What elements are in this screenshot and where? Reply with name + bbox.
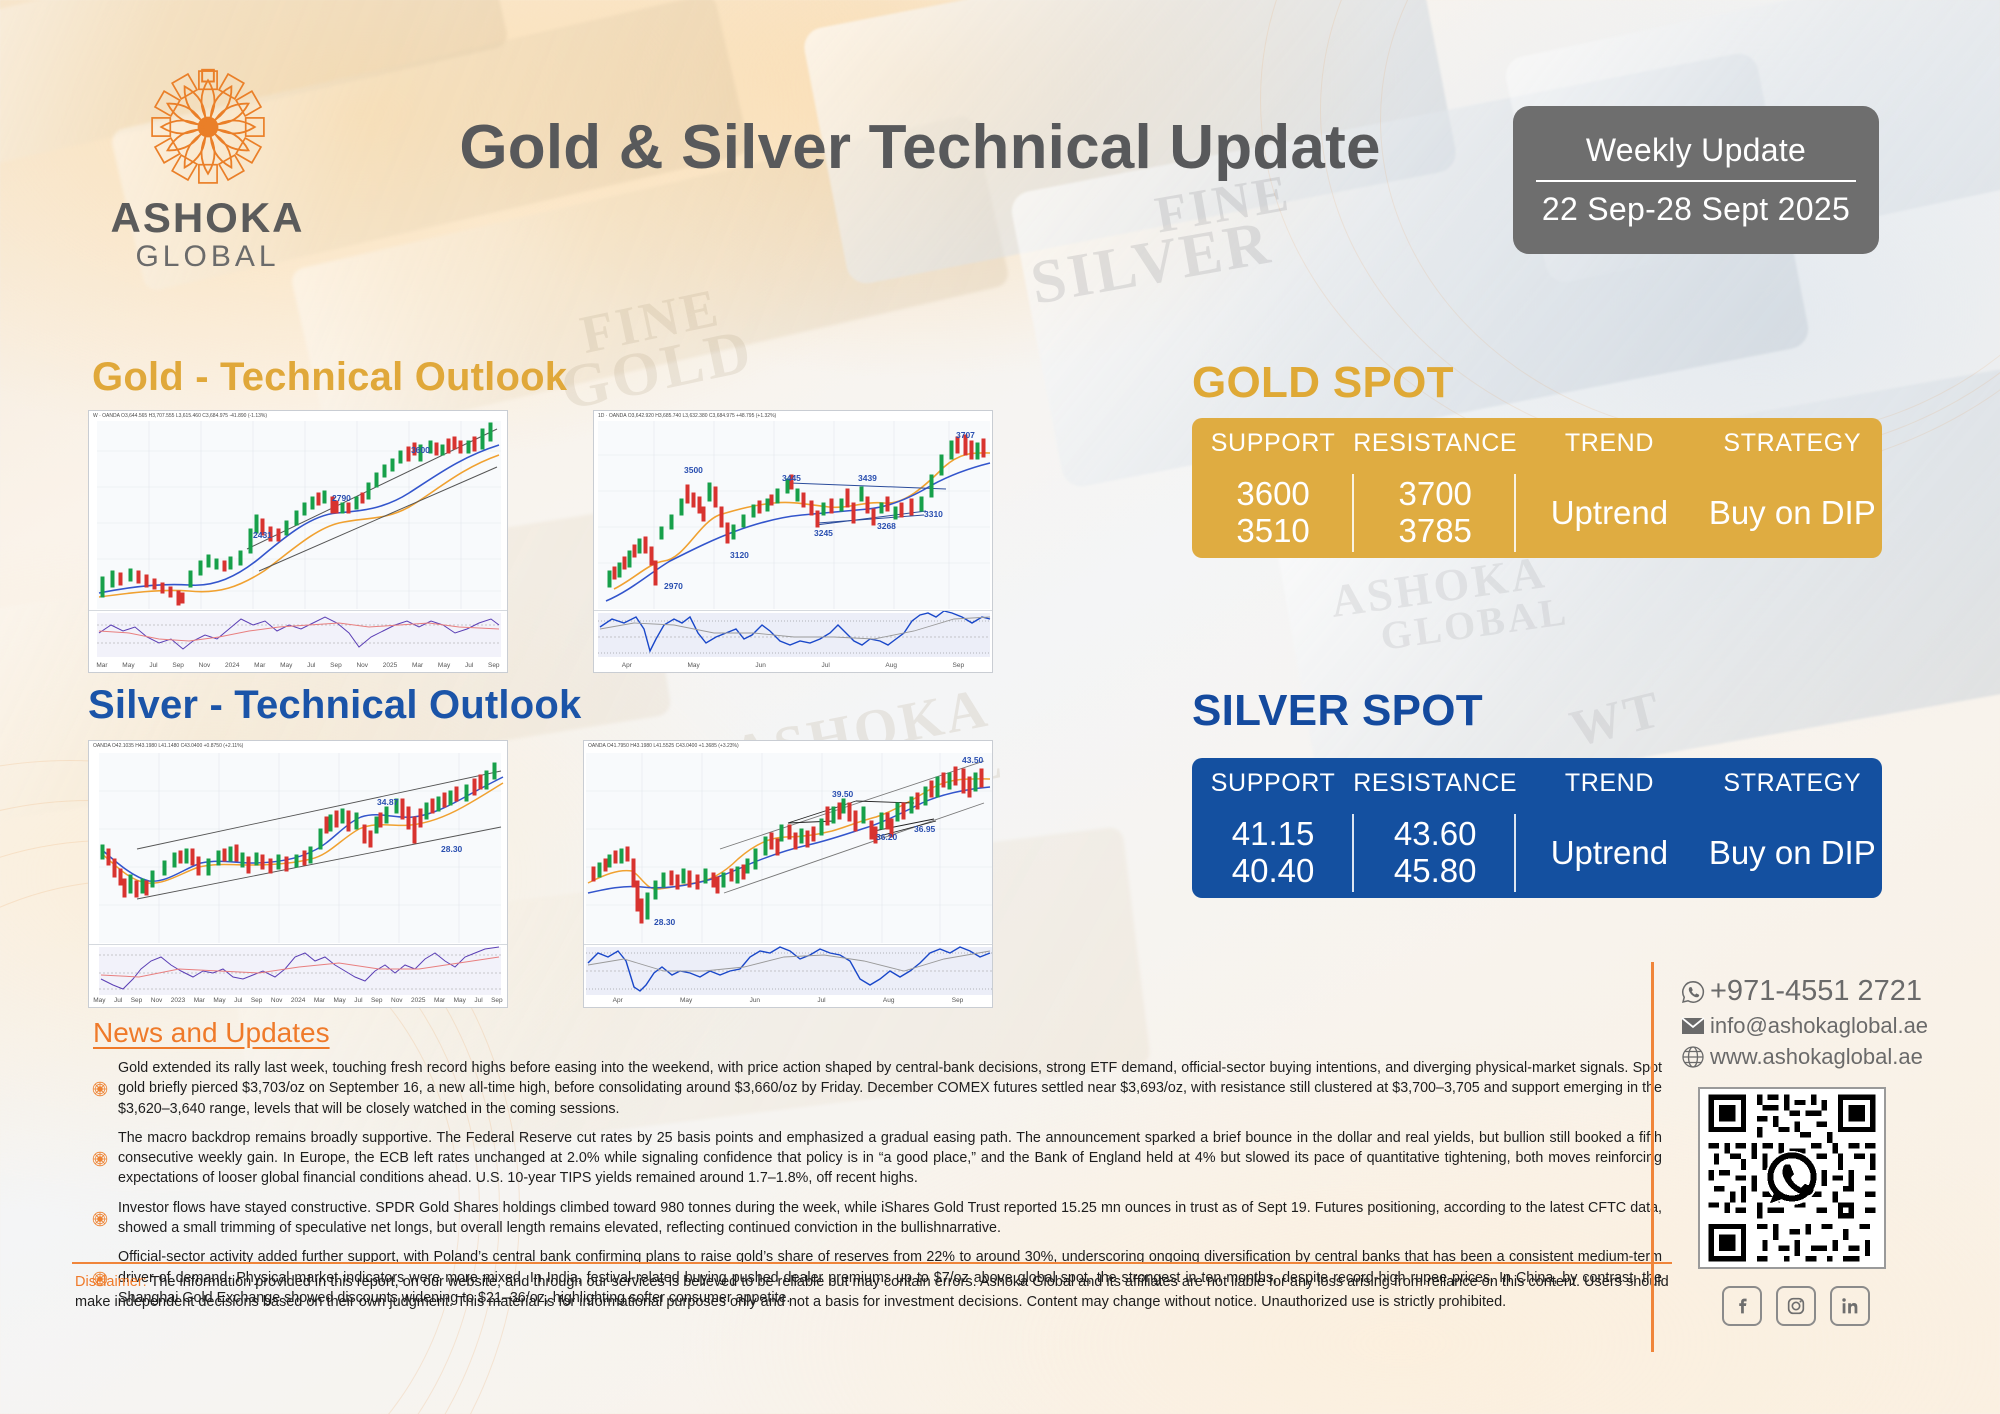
chart-price-label: 28.30	[441, 844, 462, 854]
gold-resistance-values: 3700 3785	[1354, 468, 1516, 558]
column-header-resistance: RESISTANCE	[1354, 418, 1516, 468]
table-header-row: SUPPORT RESISTANCE TREND STRATEGY	[1192, 758, 1882, 808]
column-header-strategy: STRATEGY	[1703, 758, 1882, 808]
column-header-trend: TREND	[1516, 758, 1702, 808]
chart-x-axis: MayJul SepNov 2023Mar MayJul SepNov 2024…	[89, 994, 507, 1006]
gold-trend-value: Uptrend	[1516, 468, 1702, 558]
chart-price-label: 3268	[877, 521, 896, 531]
gold-resistance-1: 3700	[1399, 476, 1472, 513]
silver-spot-table: SUPPORT RESISTANCE TREND STRATEGY 41.15 …	[1192, 758, 1882, 898]
contact-phone: +971-4551 2721	[1710, 975, 1922, 1008]
brand-logo: ASHOKA GLOBAL	[100, 62, 315, 274]
gold-spot-heading: GOLD SPOT	[1192, 358, 1454, 408]
chart-price-label: 3600	[411, 445, 430, 455]
list-item: Gold extended its rally last week, touch…	[92, 1058, 1662, 1119]
globe-icon	[1676, 1045, 1710, 1069]
ashoka-chakra-flower-logo	[143, 62, 273, 192]
chart-gold-weekly[interactable]: W · OANDA O3,644.565 H3,707.555 L3,615.4…	[88, 410, 508, 673]
disclaimer-divider	[72, 1262, 1672, 1264]
silver-resistance-1: 43.60	[1394, 816, 1477, 853]
instagram-icon[interactable]	[1776, 1286, 1816, 1326]
contact-email-row[interactable]: info@ashokaglobal.ae	[1676, 1013, 1976, 1039]
chart-silver-daily[interactable]: OANDA O41.7950 H43.1980 L41.5525 C43.040…	[583, 740, 993, 1008]
chart-price-label: 3445	[782, 473, 801, 483]
news-text: The macro backdrop remains broadly suppo…	[118, 1128, 1662, 1189]
chart-price-label: 3245	[814, 528, 833, 538]
brand-subname: GLOBAL	[100, 240, 315, 274]
chart-x-axis: MarMay JulSep Nov2024 MarMay JulSep Nov2…	[89, 659, 507, 671]
list-item: Investor flows have stayed constructive.…	[92, 1198, 1662, 1239]
table-body-row: 3600 3510 3700 3785 Uptrend Buy on DIP	[1192, 468, 1882, 558]
chart-price-label: 34.87	[377, 797, 398, 807]
gold-spot-table: SUPPORT RESISTANCE TREND STRATEGY 3600 3…	[1192, 418, 1882, 558]
disclaimer: Disclaimer: The information provided in …	[75, 1272, 1670, 1313]
badge-date-range: 22 Sep-28 Sept 2025	[1542, 191, 1850, 228]
flower-bullet-icon	[92, 1151, 108, 1167]
flower-bullet-icon	[92, 1211, 108, 1227]
chart-price-label: 36.20	[876, 832, 897, 842]
weekly-update-badge: Weekly Update 22 Sep-28 Sept 2025	[1513, 106, 1879, 254]
badge-label: Weekly Update	[1586, 132, 1806, 169]
chart-price-label: 3120	[730, 550, 749, 560]
chart-price-label: 39.50	[832, 789, 853, 799]
news-text: Investor flows have stayed constructive.…	[118, 1198, 1662, 1239]
chart-price-label: 3439	[858, 473, 877, 483]
chart-price-label: 2970	[664, 581, 683, 591]
silver-strategy-value: Buy on DIP	[1703, 808, 1882, 898]
chart-price-label: 3310	[924, 509, 943, 519]
brand-name: ASHOKA	[100, 196, 315, 240]
page-title: Gold & Silver Technical Update	[380, 112, 1460, 183]
gold-resistance-2: 3785	[1399, 513, 1472, 550]
column-header-trend: TREND	[1516, 418, 1702, 468]
badge-divider	[1536, 180, 1856, 182]
list-item: The macro backdrop remains broadly suppo…	[92, 1128, 1662, 1189]
contact-website-row[interactable]: www.ashokaglobal.ae	[1676, 1044, 1976, 1070]
column-header-resistance: RESISTANCE	[1354, 758, 1516, 808]
silver-resistance-values: 43.60 45.80	[1354, 808, 1516, 898]
silver-support-values: 41.15 40.40	[1192, 808, 1354, 898]
chart-price-label: 36.95	[914, 824, 935, 834]
column-header-support: SUPPORT	[1192, 418, 1354, 468]
envelope-icon	[1676, 1017, 1710, 1035]
silver-support-1: 41.15	[1232, 816, 1315, 853]
disclaimer-label: Disclaimer:	[75, 1274, 147, 1290]
whatsapp-qr-code[interactable]	[1698, 1087, 1886, 1269]
chart-price-label: 2790	[332, 493, 351, 503]
chart-price-label: 3500	[684, 465, 703, 475]
gold-support-1: 3600	[1236, 476, 1309, 513]
table-body-row: 41.15 40.40 43.60 45.80 Uptrend Buy on D…	[1192, 808, 1882, 898]
chart-x-axis: AprMay JunJul AugSep	[584, 994, 992, 1006]
contact-email: info@ashokaglobal.ae	[1710, 1013, 1928, 1039]
chart-price-label: 43.50	[962, 755, 983, 765]
chart-price-label: 28.30	[654, 917, 675, 927]
silver-trend-value: Uptrend	[1516, 808, 1702, 898]
contact-website: www.ashokaglobal.ae	[1710, 1044, 1923, 1070]
chart-price-label: 3707	[956, 430, 975, 440]
gold-support-2: 3510	[1236, 513, 1309, 550]
gold-outlook-heading: Gold - Technical Outlook	[92, 355, 567, 400]
silver-resistance-2: 45.80	[1394, 853, 1477, 890]
facebook-icon[interactable]	[1722, 1286, 1762, 1326]
social-links	[1722, 1286, 1870, 1326]
chart-price-label: 2431	[253, 530, 272, 540]
silver-spot-heading: SILVER SPOT	[1192, 686, 1483, 736]
linkedin-icon[interactable]	[1830, 1286, 1870, 1326]
gold-support-values: 3600 3510	[1192, 468, 1354, 558]
silver-support-2: 40.40	[1232, 853, 1315, 890]
contact-phone-row[interactable]: +971-4551 2721	[1676, 975, 1976, 1008]
table-header-row: SUPPORT RESISTANCE TREND STRATEGY	[1192, 418, 1882, 468]
silver-outlook-heading: Silver - Technical Outlook	[88, 683, 581, 728]
whatsapp-icon	[1676, 979, 1710, 1005]
news-heading: News and Updates	[93, 1017, 330, 1049]
chart-silver-weekly[interactable]: OANDA O42.1035 H43.1980 L41.1480 C43.040…	[88, 740, 508, 1008]
news-text: Gold extended its rally last week, touch…	[118, 1058, 1662, 1119]
disclaimer-text: The information provided in this report,…	[75, 1274, 1669, 1310]
chart-gold-daily[interactable]: 1D · OANDA O3,642.920 H3,685.740 L3,632.…	[593, 410, 993, 673]
contact-divider	[1651, 962, 1654, 1352]
gold-strategy-value: Buy on DIP	[1703, 468, 1882, 558]
chart-x-axis: AprMay JunJul AugSep	[594, 659, 992, 671]
column-header-strategy: STRATEGY	[1703, 418, 1882, 468]
contact-block: +971-4551 2721 info@ashokaglobal.ae www.…	[1676, 975, 1976, 1075]
column-header-support: SUPPORT	[1192, 758, 1354, 808]
flower-bullet-icon	[92, 1081, 108, 1097]
